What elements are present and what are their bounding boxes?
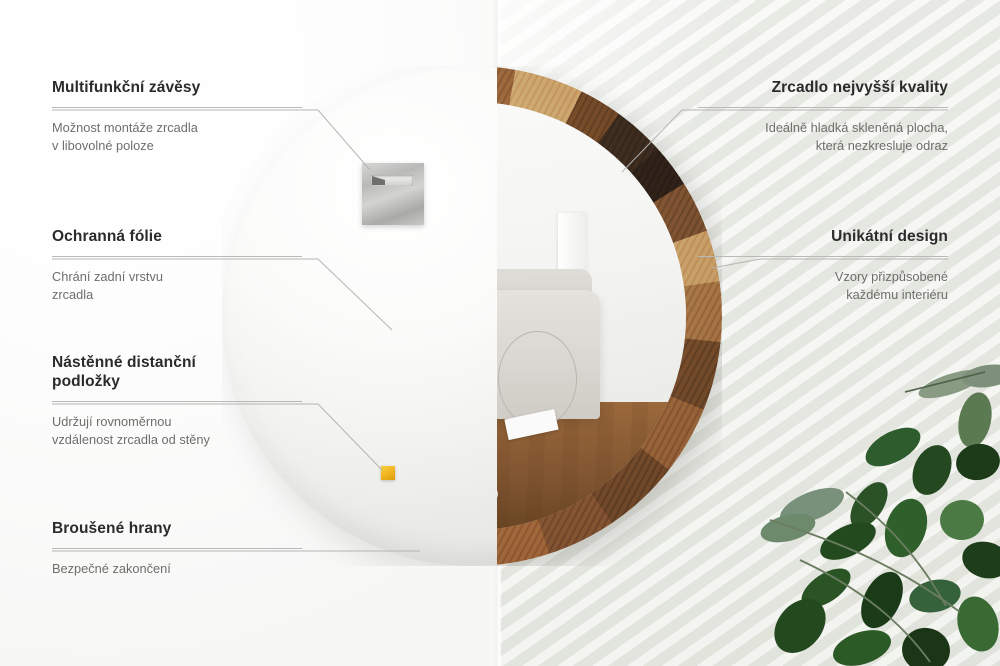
callout-body-line1: Chrání zadní vrstvu bbox=[52, 269, 163, 284]
callout-body-line1: Bezpečné zakončení bbox=[52, 561, 171, 576]
callout-zrcadlo-nejvyssi-kvality: Zrcadlo nejvyšší kvality Ideálně hladká … bbox=[698, 79, 948, 156]
callout-body: Bezpečné zakončení bbox=[52, 560, 302, 579]
callout-title: Unikátní design bbox=[698, 228, 948, 247]
hanger-plate bbox=[362, 163, 424, 225]
callout-body-line1: Udržují rovnoměrnou bbox=[52, 414, 172, 429]
callout-title-line1: Nástěnné distanční bbox=[52, 354, 196, 371]
callout-rule bbox=[52, 256, 302, 257]
callout-body-line1: Ideálně hladká skleněná plocha, bbox=[765, 120, 948, 135]
callout-multifunkcni-zavesy: Multifunkční závěsy Možnost montáže zrca… bbox=[52, 79, 302, 156]
callout-body-line2: zrcadla bbox=[52, 287, 93, 302]
callout-rule bbox=[698, 256, 948, 257]
infographic-canvas: Multifunkční závěsy Možnost montáže zrca… bbox=[0, 0, 1000, 666]
callout-title: Zrcadlo nejvyšší kvality bbox=[698, 79, 948, 98]
callout-body-line1: Vzory přizpůsobené bbox=[835, 269, 948, 284]
callout-rule bbox=[52, 107, 302, 108]
callout-body: Chrání zadní vrstvu zrcadla bbox=[52, 268, 302, 305]
callout-rule bbox=[698, 107, 948, 108]
callout-title: Nástěnné distanční podložky bbox=[52, 354, 302, 392]
callout-body: Ideálně hladká skleněná plocha, která ne… bbox=[698, 119, 948, 156]
callout-ochranna-folie: Ochranná fólie Chrání zadní vrstvu zrcad… bbox=[52, 228, 302, 305]
callout-title-line2: podložky bbox=[52, 373, 120, 390]
callout-title: Ochranná fólie bbox=[52, 228, 302, 247]
callout-rule bbox=[52, 401, 302, 402]
wall-spacer bbox=[381, 466, 395, 480]
callout-rule bbox=[52, 548, 302, 549]
callout-brousene-hrany: Broušené hrany Bezpečné zakončení bbox=[52, 520, 302, 578]
callout-body: Možnost montáže zrcadla v libovolné polo… bbox=[52, 119, 302, 156]
callout-nastenne-distancni-podlozky: Nástěnné distanční podložky Udržují rovn… bbox=[52, 354, 302, 450]
callout-body-line1: Možnost montáže zrcadla bbox=[52, 120, 198, 135]
callout-body-line2: která nezkresluje odraz bbox=[816, 138, 948, 153]
callout-body-line2: vzdálenost zrcadla od stěny bbox=[52, 432, 210, 447]
callout-title: Multifunkční závěsy bbox=[52, 79, 302, 98]
callout-body: Vzory přizpůsobené každému interiéru bbox=[698, 268, 948, 305]
callout-unikatni-design: Unikátní design Vzory přizpůsobené každé… bbox=[698, 228, 948, 305]
callout-title: Broušené hrany bbox=[52, 520, 302, 539]
callout-body-line2: každému interiéru bbox=[846, 287, 948, 302]
hanger-keyhole-slot bbox=[371, 175, 413, 186]
callout-body: Udržují rovnoměrnou vzdálenost zrcadla o… bbox=[52, 413, 302, 450]
callout-body-line2: v libovolné poloze bbox=[52, 138, 154, 153]
